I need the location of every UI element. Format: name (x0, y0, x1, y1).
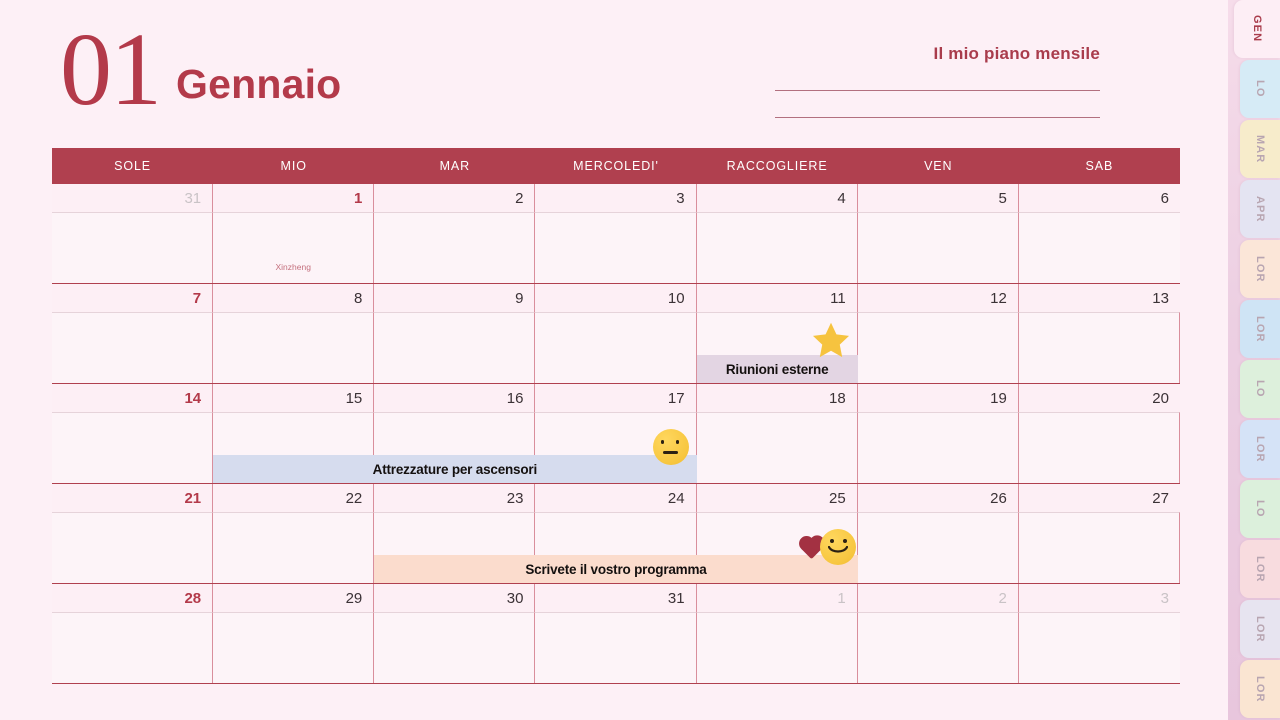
day-cell-20[interactable] (1019, 412, 1180, 483)
day-cell-1[interactable] (697, 612, 858, 683)
month-tab-label: LO (1254, 500, 1266, 517)
date-number-16[interactable]: 16 (374, 384, 535, 412)
day-cell-6[interactable] (1019, 212, 1180, 283)
month-tab-mar-2[interactable]: MAR (1240, 120, 1280, 178)
month-tab-apr-3[interactable]: APR (1240, 180, 1280, 238)
month-tab-label: LO (1254, 80, 1266, 97)
date-number-6[interactable]: 6 (1019, 184, 1180, 212)
date-number-24[interactable]: 24 (535, 484, 696, 512)
date-number-7[interactable]: 7 (52, 284, 213, 312)
month-tab-lor-5[interactable]: LOR (1240, 300, 1280, 358)
day-cell-28[interactable] (52, 612, 213, 683)
month-tab-gen-0[interactable]: GEN (1234, 0, 1280, 58)
date-number-11[interactable]: 11 (697, 284, 858, 312)
day-cell-5[interactable] (858, 212, 1019, 283)
date-number-10[interactable]: 10 (535, 284, 696, 312)
plan-rule-2[interactable] (775, 117, 1100, 118)
day-cell-12[interactable] (858, 312, 1019, 383)
date-number-8[interactable]: 8 (213, 284, 374, 312)
date-number-27[interactable]: 27 (1019, 484, 1180, 512)
month-tab-lor-10[interactable]: LOR (1240, 600, 1280, 658)
day-cell-31[interactable] (535, 612, 696, 683)
date-number-20[interactable]: 20 (1019, 384, 1180, 412)
month-tab-lor-9[interactable]: LOR (1240, 540, 1280, 598)
month-tab-label: LOR (1254, 556, 1266, 583)
calendar-week-2: 14151617181920Attrezzature per ascensori (52, 384, 1180, 483)
day-cell-26[interactable] (858, 512, 1019, 583)
calendar-week-4: 28293031123 (52, 584, 1180, 683)
day-cell-29[interactable] (213, 612, 374, 683)
page-header: 01 Gennaio Il mio piano mensile (0, 0, 1200, 148)
date-number-2[interactable]: 2 (374, 184, 535, 212)
day-cell-19[interactable] (858, 412, 1019, 483)
day-cell-3[interactable] (535, 212, 696, 283)
month-tab-lor-4[interactable]: LOR (1240, 240, 1280, 298)
day-cell-27[interactable] (1019, 512, 1180, 583)
date-number-23[interactable]: 23 (374, 484, 535, 512)
date-number-3[interactable]: 3 (1019, 584, 1180, 612)
weekday-header-2: MAR (374, 148, 535, 184)
date-number-5[interactable]: 5 (858, 184, 1019, 212)
date-number-29[interactable]: 29 (213, 584, 374, 612)
date-number-19[interactable]: 19 (858, 384, 1019, 412)
month-tab-lo-1[interactable]: LO (1240, 60, 1280, 118)
date-number-31[interactable]: 31 (535, 584, 696, 612)
day-cell-14[interactable] (52, 412, 213, 483)
date-number-17[interactable]: 17 (535, 384, 696, 412)
month-tab-lo-6[interactable]: LO (1240, 360, 1280, 418)
day-cell-21[interactable] (52, 512, 213, 583)
calendar-bottom-border (52, 683, 1180, 684)
month-number: 01 (60, 22, 160, 118)
date-number-30[interactable]: 30 (374, 584, 535, 612)
day-cell-10[interactable] (535, 312, 696, 383)
calendar-week-0: 31123456Xinzheng (52, 184, 1180, 283)
month-tab-lo-8[interactable]: LO (1240, 480, 1280, 538)
month-tab-label: LOR (1254, 436, 1266, 463)
month-tab-label: LOR (1254, 676, 1266, 703)
day-cell-18[interactable] (697, 412, 858, 483)
day-cell-9[interactable] (374, 312, 535, 383)
date-number-15[interactable]: 15 (213, 384, 374, 412)
date-number-31[interactable]: 31 (52, 184, 213, 212)
date-number-21[interactable]: 21 (52, 484, 213, 512)
date-number-25[interactable]: 25 (697, 484, 858, 512)
day-note: Xinzheng (213, 262, 373, 272)
date-number-13[interactable]: 13 (1019, 284, 1180, 312)
weekday-header-6: SAB (1019, 148, 1180, 184)
weekday-header-4: RACCOGLIERE (697, 148, 858, 184)
date-number-4[interactable]: 4 (697, 184, 858, 212)
calendar-weeks: 31123456Xinzheng78910111213Riunioni este… (52, 184, 1180, 684)
date-number-1[interactable]: 1 (213, 184, 374, 212)
month-tab-rail: GENLOMARAPRLORLORLOLORLOLORLORLOR (1228, 0, 1280, 720)
event-bar[interactable]: Attrezzature per ascensori (213, 455, 696, 483)
month-tab-label: GEN (1251, 15, 1263, 42)
month-title-block: 01 Gennaio (60, 22, 341, 118)
day-cell-22[interactable] (213, 512, 374, 583)
month-tab-lor-11[interactable]: LOR (1240, 660, 1280, 718)
weekday-header-3: MERCOLEDI' (535, 148, 696, 184)
date-number-26[interactable]: 26 (858, 484, 1019, 512)
event-bar[interactable]: Riunioni esterne (697, 355, 858, 383)
plan-title: Il mio piano mensile (775, 44, 1100, 64)
calendar-grid: SOLEMIOMARMERCOLEDI'RACCOGLIEREVENSAB 31… (52, 148, 1180, 684)
date-number-22[interactable]: 22 (213, 484, 374, 512)
day-cell-2[interactable] (374, 212, 535, 283)
month-tab-label: LOR (1254, 616, 1266, 643)
day-cell-2[interactable] (858, 612, 1019, 683)
date-number-1[interactable]: 1 (697, 584, 858, 612)
date-number-14[interactable]: 14 (52, 384, 213, 412)
calendar-week-1: 78910111213Riunioni esterne (52, 284, 1180, 383)
plan-note-block: Il mio piano mensile (775, 44, 1100, 118)
event-bar[interactable]: Scrivete il vostro programma (374, 555, 857, 583)
calendar-week-3: 21222324252627Scrivete il vostro program… (52, 484, 1180, 583)
weekday-header-row: SOLEMIOMARMERCOLEDI'RACCOGLIEREVENSAB (52, 148, 1180, 184)
day-cell-7[interactable] (52, 312, 213, 383)
date-number-9[interactable]: 9 (374, 284, 535, 312)
month-tab-label: MAR (1254, 135, 1266, 163)
weekday-header-0: SOLE (52, 148, 213, 184)
weekday-header-5: VEN (858, 148, 1019, 184)
plan-rule-1[interactable] (775, 90, 1100, 91)
date-number-18[interactable]: 18 (697, 384, 858, 412)
day-cell-13[interactable] (1019, 312, 1180, 383)
month-tab-label: APR (1254, 196, 1266, 223)
day-cell-1[interactable]: Xinzheng (213, 212, 374, 283)
day-cell-31[interactable] (52, 212, 213, 283)
month-tab-lor-7[interactable]: LOR (1240, 420, 1280, 478)
date-number-2[interactable]: 2 (858, 584, 1019, 612)
day-cell-3[interactable] (1019, 612, 1180, 683)
day-cell-30[interactable] (374, 612, 535, 683)
month-name: Gennaio (176, 61, 341, 108)
date-number-3[interactable]: 3 (535, 184, 696, 212)
month-tab-label: LOR (1254, 256, 1266, 283)
day-cell-8[interactable] (213, 312, 374, 383)
day-cell-4[interactable] (697, 212, 858, 283)
weekday-header-1: MIO (213, 148, 374, 184)
month-tab-label: LO (1254, 380, 1266, 397)
date-number-28[interactable]: 28 (52, 584, 213, 612)
date-number-12[interactable]: 12 (858, 284, 1019, 312)
month-tab-label: LOR (1254, 316, 1266, 343)
